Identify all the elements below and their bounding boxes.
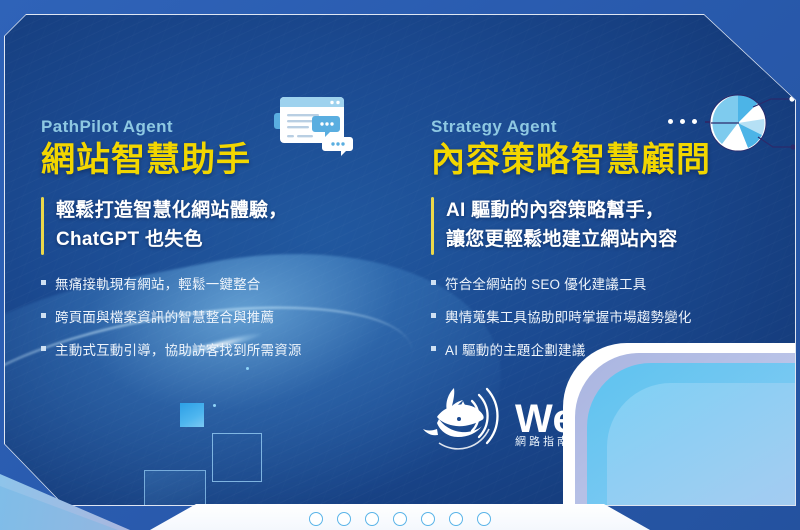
dot-circle-icon (365, 512, 379, 526)
eyebrow-label: Strategy Agent (431, 117, 557, 137)
bullet-square-icon (431, 346, 436, 351)
corner-ribbon (457, 287, 795, 505)
headline: 內容策略智慧顧問 (431, 143, 711, 179)
accent-bar (431, 197, 434, 255)
subtitle-line-1: 輕鬆打造智慧化網站體驗， (56, 197, 288, 226)
dot-circle-icon (421, 512, 435, 526)
ribbon-layer-light (607, 383, 795, 505)
bullet-square-icon (41, 346, 46, 351)
subtitle-block: 輕鬆打造智慧化網站體驗， ChatGPT 也失色 (41, 197, 288, 255)
subtitle: 輕鬆打造智慧化網站體驗， ChatGPT 也失色 (56, 197, 288, 255)
list-item-label: 無痛接軌現有網站，輕鬆一鍵整合 (55, 273, 261, 293)
dot-circle-icon (449, 512, 463, 526)
subtitle-line-1: AI 驅動的內容策略幫手， (446, 197, 678, 226)
dot-circle-icon (309, 512, 323, 526)
panel-inner: PathPilot Agent 網站智慧助手 輕鬆打造智慧化網站體驗， Chat… (5, 15, 795, 505)
list-item: 無痛接軌現有網站，輕鬆一鍵整合 (41, 273, 302, 293)
banner-stage: PathPilot Agent 網站智慧助手 輕鬆打造智慧化網站體驗， Chat… (0, 0, 800, 530)
list-item: 主動式互動引導，協助訪客找到所需資源 (41, 339, 302, 359)
list-item-label: 主動式互動引導，協助訪客找到所需資源 (55, 339, 302, 359)
subtitle-line-2: ChatGPT 也失色 (56, 226, 288, 255)
dot-circle-icon (337, 512, 351, 526)
bullet-square-icon (431, 313, 436, 318)
list-item-label: 跨頁面與檔案資訊的智慧整合與推薦 (55, 306, 274, 326)
list-item: 跨頁面與檔案資訊的智慧整合與推薦 (41, 306, 302, 326)
bullet-square-icon (431, 280, 436, 285)
subtitle: AI 驅動的內容策略幫手， 讓您更輕鬆地建立網站內容 (446, 197, 678, 255)
bullet-square-icon (41, 313, 46, 318)
eyebrow-label: PathPilot Agent (41, 117, 173, 137)
dot-circle-icon (477, 512, 491, 526)
dot-circle-icon (393, 512, 407, 526)
subtitle-block: AI 驅動的內容策略幫手， 讓您更輕鬆地建立網站內容 (431, 197, 678, 255)
bottom-dots (0, 512, 800, 526)
accent-bar (41, 197, 44, 255)
subtitle-line-2: 讓您更輕鬆地建立網站內容 (446, 226, 678, 255)
bullet-square-icon (41, 280, 46, 285)
column-pathpilot: PathPilot Agent 網站智慧助手 輕鬆打造智慧化網站體驗， Chat… (5, 15, 405, 505)
feature-list: 無痛接軌現有網站，輕鬆一鍵整合 跨頁面與檔案資訊的智慧整合與推薦 主動式互動引導… (41, 273, 302, 372)
headline: 網站智慧助手 (41, 143, 251, 179)
